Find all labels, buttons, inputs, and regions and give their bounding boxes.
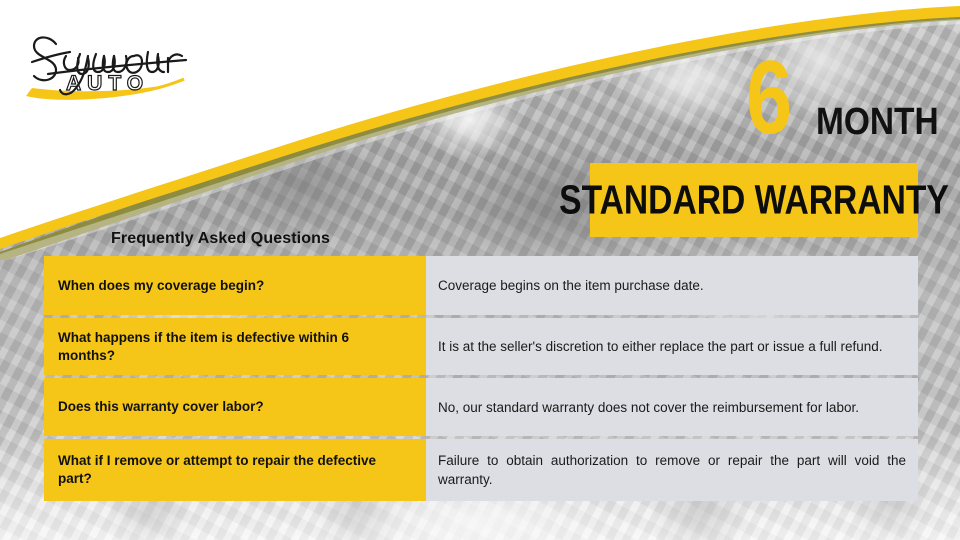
table-row: What happens if the item is defective wi… [44,318,918,375]
faq-answer-cell: Coverage begins on the item purchase dat… [422,256,918,315]
faq-question-cell: Does this warranty cover labor? [44,378,422,436]
faq-question-text: Does this warranty cover labor? [58,398,264,416]
faq-question-cell: When does my coverage begin? [44,256,422,315]
table-row: Does this warranty cover labor? No, our … [44,378,918,436]
duration-number: 6 [746,46,791,150]
standard-warranty-label: STANDARD WARRANTY [559,177,949,224]
table-row: What if I remove or attempt to repair th… [44,439,918,501]
duration-unit: MONTH [816,103,939,141]
faq-answer-cell: It is at the seller's discretion to eith… [422,318,918,375]
faq-heading: Frequently Asked Questions [111,230,330,248]
faq-question-text: What happens if the item is defective wi… [58,329,408,365]
table-row: When does my coverage begin? Coverage be… [44,256,918,315]
faq-answer-text: No, our standard warranty does not cover… [438,398,906,417]
seymour-auto-logo[interactable]: AUTO [18,18,233,110]
faq-answer-text: Failure to obtain authorization to remov… [438,451,906,489]
faq-answer-text: Coverage begins on the item purchase dat… [438,276,906,295]
faq-question-text: When does my coverage begin? [58,277,264,295]
faq-table: When does my coverage begin? Coverage be… [44,256,918,501]
faq-answer-cell: No, our standard warranty does not cover… [422,378,918,436]
faq-answer-cell: Failure to obtain authorization to remov… [422,439,918,501]
faq-question-text: What if I remove or attempt to repair th… [58,452,408,488]
faq-answer-text: It is at the seller's discretion to eith… [438,337,906,356]
standard-warranty-banner: STANDARD WARRANTY [590,163,918,237]
faq-question-cell: What if I remove or attempt to repair th… [44,439,422,501]
warranty-slide: AUTO 6 MONTH STANDARD WARRANTY Frequentl… [0,0,960,540]
faq-question-cell: What happens if the item is defective wi… [44,318,422,375]
svg-text:AUTO: AUTO [66,72,149,95]
